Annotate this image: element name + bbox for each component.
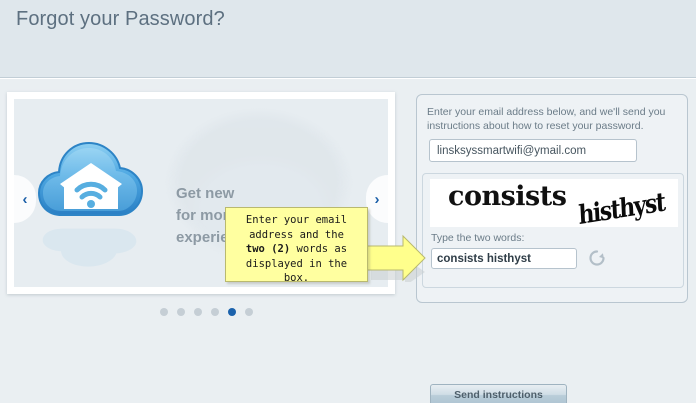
refresh-captcha-icon[interactable] [587, 248, 607, 268]
chevron-left-icon: ‹ [23, 191, 28, 208]
captcha-label: Type the two words: [431, 232, 524, 244]
carousel-caption-line-1: Get new [176, 183, 263, 205]
email-instruction-callout: Enter your email address and the two (2)… [225, 207, 368, 282]
page-root: Forgot your Password? [0, 0, 696, 403]
callout-line-5: box. [230, 271, 363, 286]
chevron-right-icon: › [375, 191, 380, 208]
callout-line-3-rest: words as [290, 243, 347, 255]
cloud-icon-reflection [40, 217, 140, 275]
carousel-dot-active[interactable] [228, 308, 236, 316]
captcha-block: consists histhyst Type the two words: [422, 173, 684, 288]
callout-line-3: two (2) words as [230, 242, 363, 257]
carousel-dots[interactable] [160, 308, 253, 316]
email-input[interactable] [429, 139, 637, 162]
page-title: Forgot your Password? [16, 8, 225, 31]
captcha-word-2: histhyst [578, 187, 666, 227]
carousel-dot[interactable] [177, 308, 185, 316]
send-instructions-button[interactable]: Send instructions [430, 384, 567, 403]
carousel-dot[interactable] [211, 308, 219, 316]
captcha-word-1: consists [448, 181, 566, 212]
page-body: Get new for more experiences ‹ › [0, 79, 696, 403]
callout-line-1: Enter your email [230, 213, 363, 228]
password-reset-panel: Enter your email address below, and we'l… [416, 94, 688, 303]
carousel-dot[interactable] [160, 308, 168, 316]
carousel-next-button[interactable]: › [366, 175, 388, 223]
callout-bold-two: two (2) [246, 243, 290, 255]
carousel-dot[interactable] [194, 308, 202, 316]
callout-line-4: displayed in the [230, 257, 363, 272]
captcha-image: consists histhyst [430, 179, 678, 227]
callout-arrow-right-icon [365, 234, 427, 282]
callout-line-2: address and the [230, 228, 363, 243]
carousel-prev-button[interactable]: ‹ [14, 175, 36, 223]
carousel-dot[interactable] [245, 308, 253, 316]
reset-instructions-text: Enter your email address below, and we'l… [427, 105, 675, 133]
captcha-input[interactable] [431, 248, 577, 269]
page-header: Forgot your Password? [0, 0, 696, 78]
